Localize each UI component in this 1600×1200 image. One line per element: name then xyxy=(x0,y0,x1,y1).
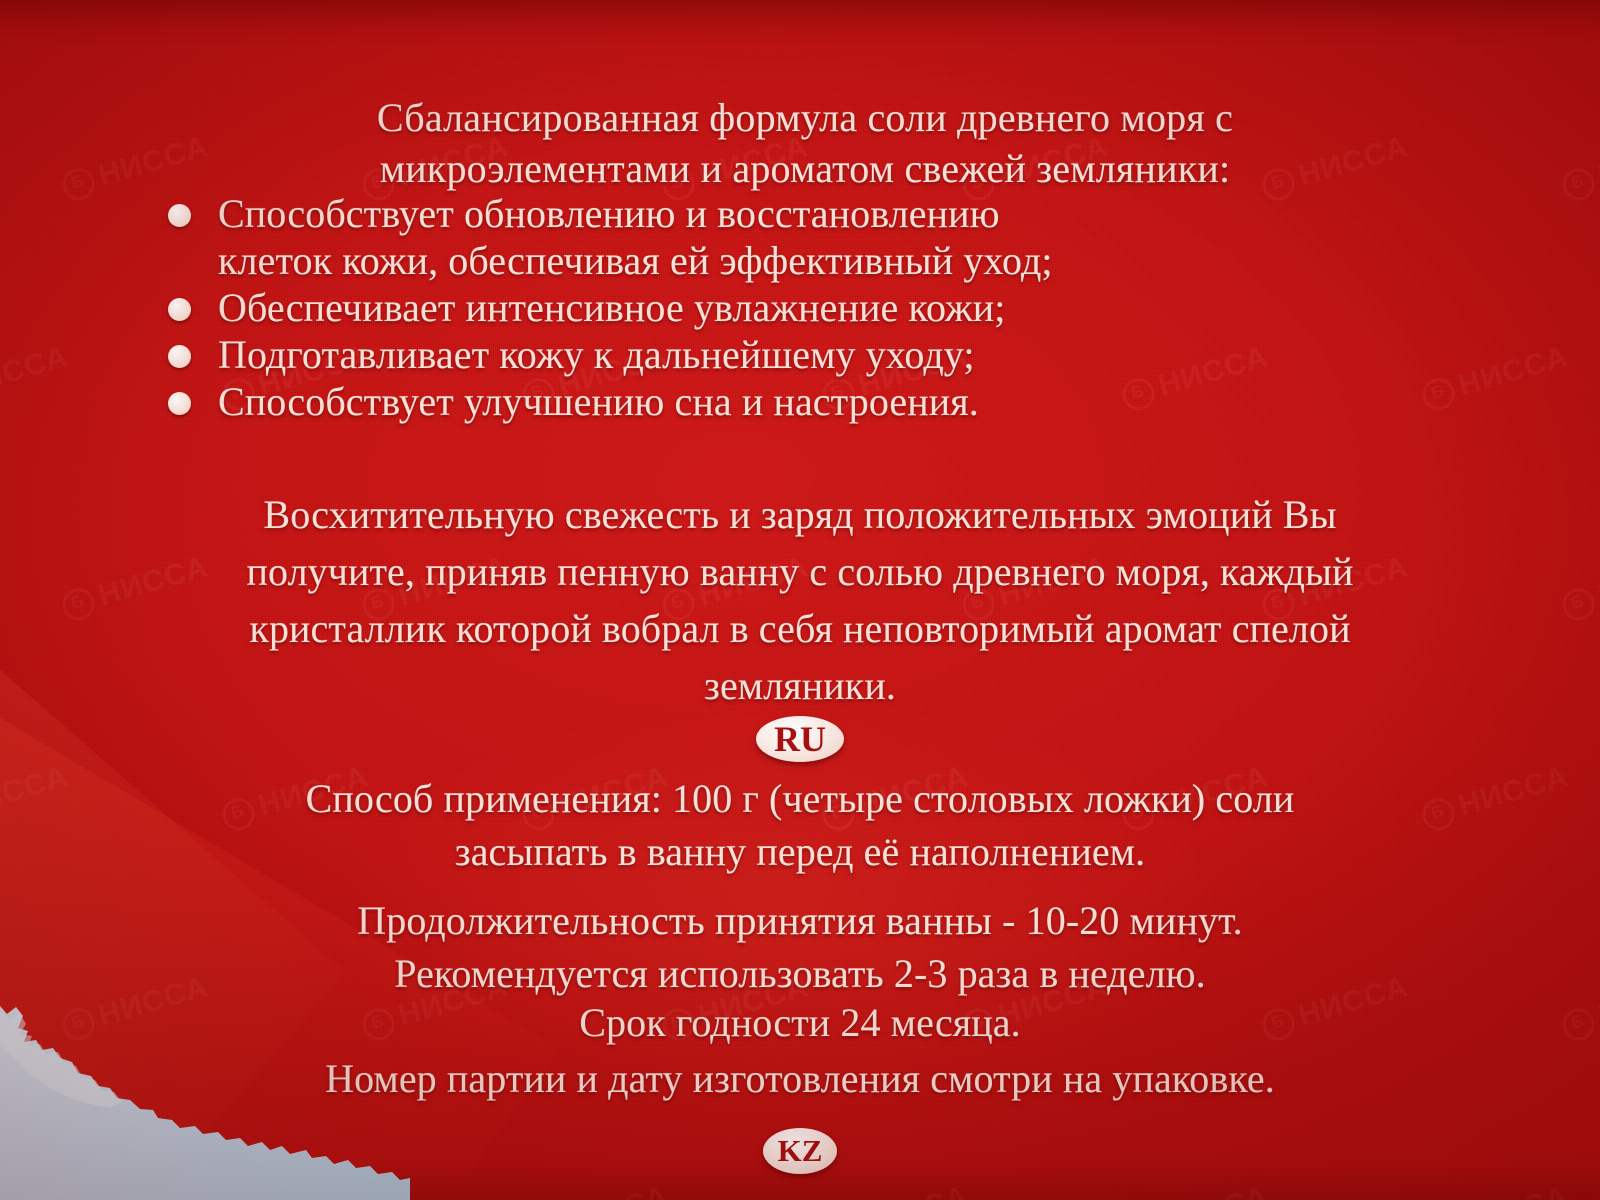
usage-line-2: засыпать в ванну перед её наполнением. xyxy=(24,825,1576,878)
pitch-paragraph: Восхитительную свежесть и заряд положите… xyxy=(24,486,1576,714)
country-badge-kz: KZ xyxy=(763,1128,837,1174)
usage-instructions: Способ применения: 100 г (четыре столовы… xyxy=(24,772,1576,1000)
label-content: Сбалансированная формула соли древнего м… xyxy=(0,0,1600,1200)
bullet-dot-icon xyxy=(168,298,191,321)
shelf-life-line: Срок годности 24 месяца. xyxy=(579,1000,1021,1045)
usage-spacer xyxy=(24,878,1576,894)
benefit-3-line-1: Подготавливает кожу к дальнейшему уходу; xyxy=(218,332,975,377)
product-label-panel: БНИССАБНИССАБНИССАБНИССАБНИССАБНИССАБНИС… xyxy=(0,0,1600,1200)
intro-paragraph: Сбалансированная формула соли древнего м… xyxy=(180,92,1430,194)
bullet-dot-icon xyxy=(168,345,191,368)
benefit-item-1: Способствует обновлению и восстановлению… xyxy=(168,190,1408,284)
benefit-1-line-2: клеток кожи, обеспечивая ей эффективный … xyxy=(218,237,1408,284)
country-badge-ru-label: RU xyxy=(774,718,826,760)
bullet-dot-icon xyxy=(168,392,191,415)
benefit-item-2: Обеспечивает интенсивное увлажнение кожи… xyxy=(168,284,1408,331)
benefit-item-3: Подготавливает кожу к дальнейшему уходу; xyxy=(168,331,1408,378)
batch-info-line: Номер партии и дату изготовления смотри … xyxy=(325,1056,1275,1101)
pitch-line-2: получите, приняв пенную ванну с солью др… xyxy=(247,549,1354,594)
benefit-1-line-1: Способствует обновлению и восстановлению xyxy=(218,191,1000,236)
pitch-line-1: Восхитительную свежесть и заряд положите… xyxy=(263,492,1336,537)
country-badge-ru: RU xyxy=(756,716,844,762)
intro-line-2: микроэлементами и ароматом свежей землян… xyxy=(180,143,1430,194)
pitch-line-3: кристаллик которой вобрал в себя неповто… xyxy=(249,606,1350,651)
benefit-2-line-1: Обеспечивает интенсивное увлажнение кожи… xyxy=(218,285,1006,330)
usage-line-3: Продолжительность принятия ванны - 10-20… xyxy=(24,894,1576,947)
intro-line-1: Сбалансированная формула соли древнего м… xyxy=(377,95,1233,140)
pitch-line-4: земляники. xyxy=(704,663,896,708)
benefit-4-line-1: Способствует улучшению сна и настроения. xyxy=(218,379,979,424)
usage-line-1: Способ применения: 100 г (четыре столовы… xyxy=(24,772,1576,825)
shelf-life-block: Срок годности 24 месяца. Номер партии и … xyxy=(24,995,1576,1107)
benefit-item-4: Способствует улучшению сна и настроения. xyxy=(168,378,1408,425)
bullet-dot-icon xyxy=(168,204,191,227)
benefits-list: Способствует обновлению и восстановлению… xyxy=(168,190,1408,425)
usage-line-4: Рекомендуется использовать 2-3 раза в не… xyxy=(24,947,1576,1000)
country-badge-kz-label: KZ xyxy=(778,1133,823,1169)
